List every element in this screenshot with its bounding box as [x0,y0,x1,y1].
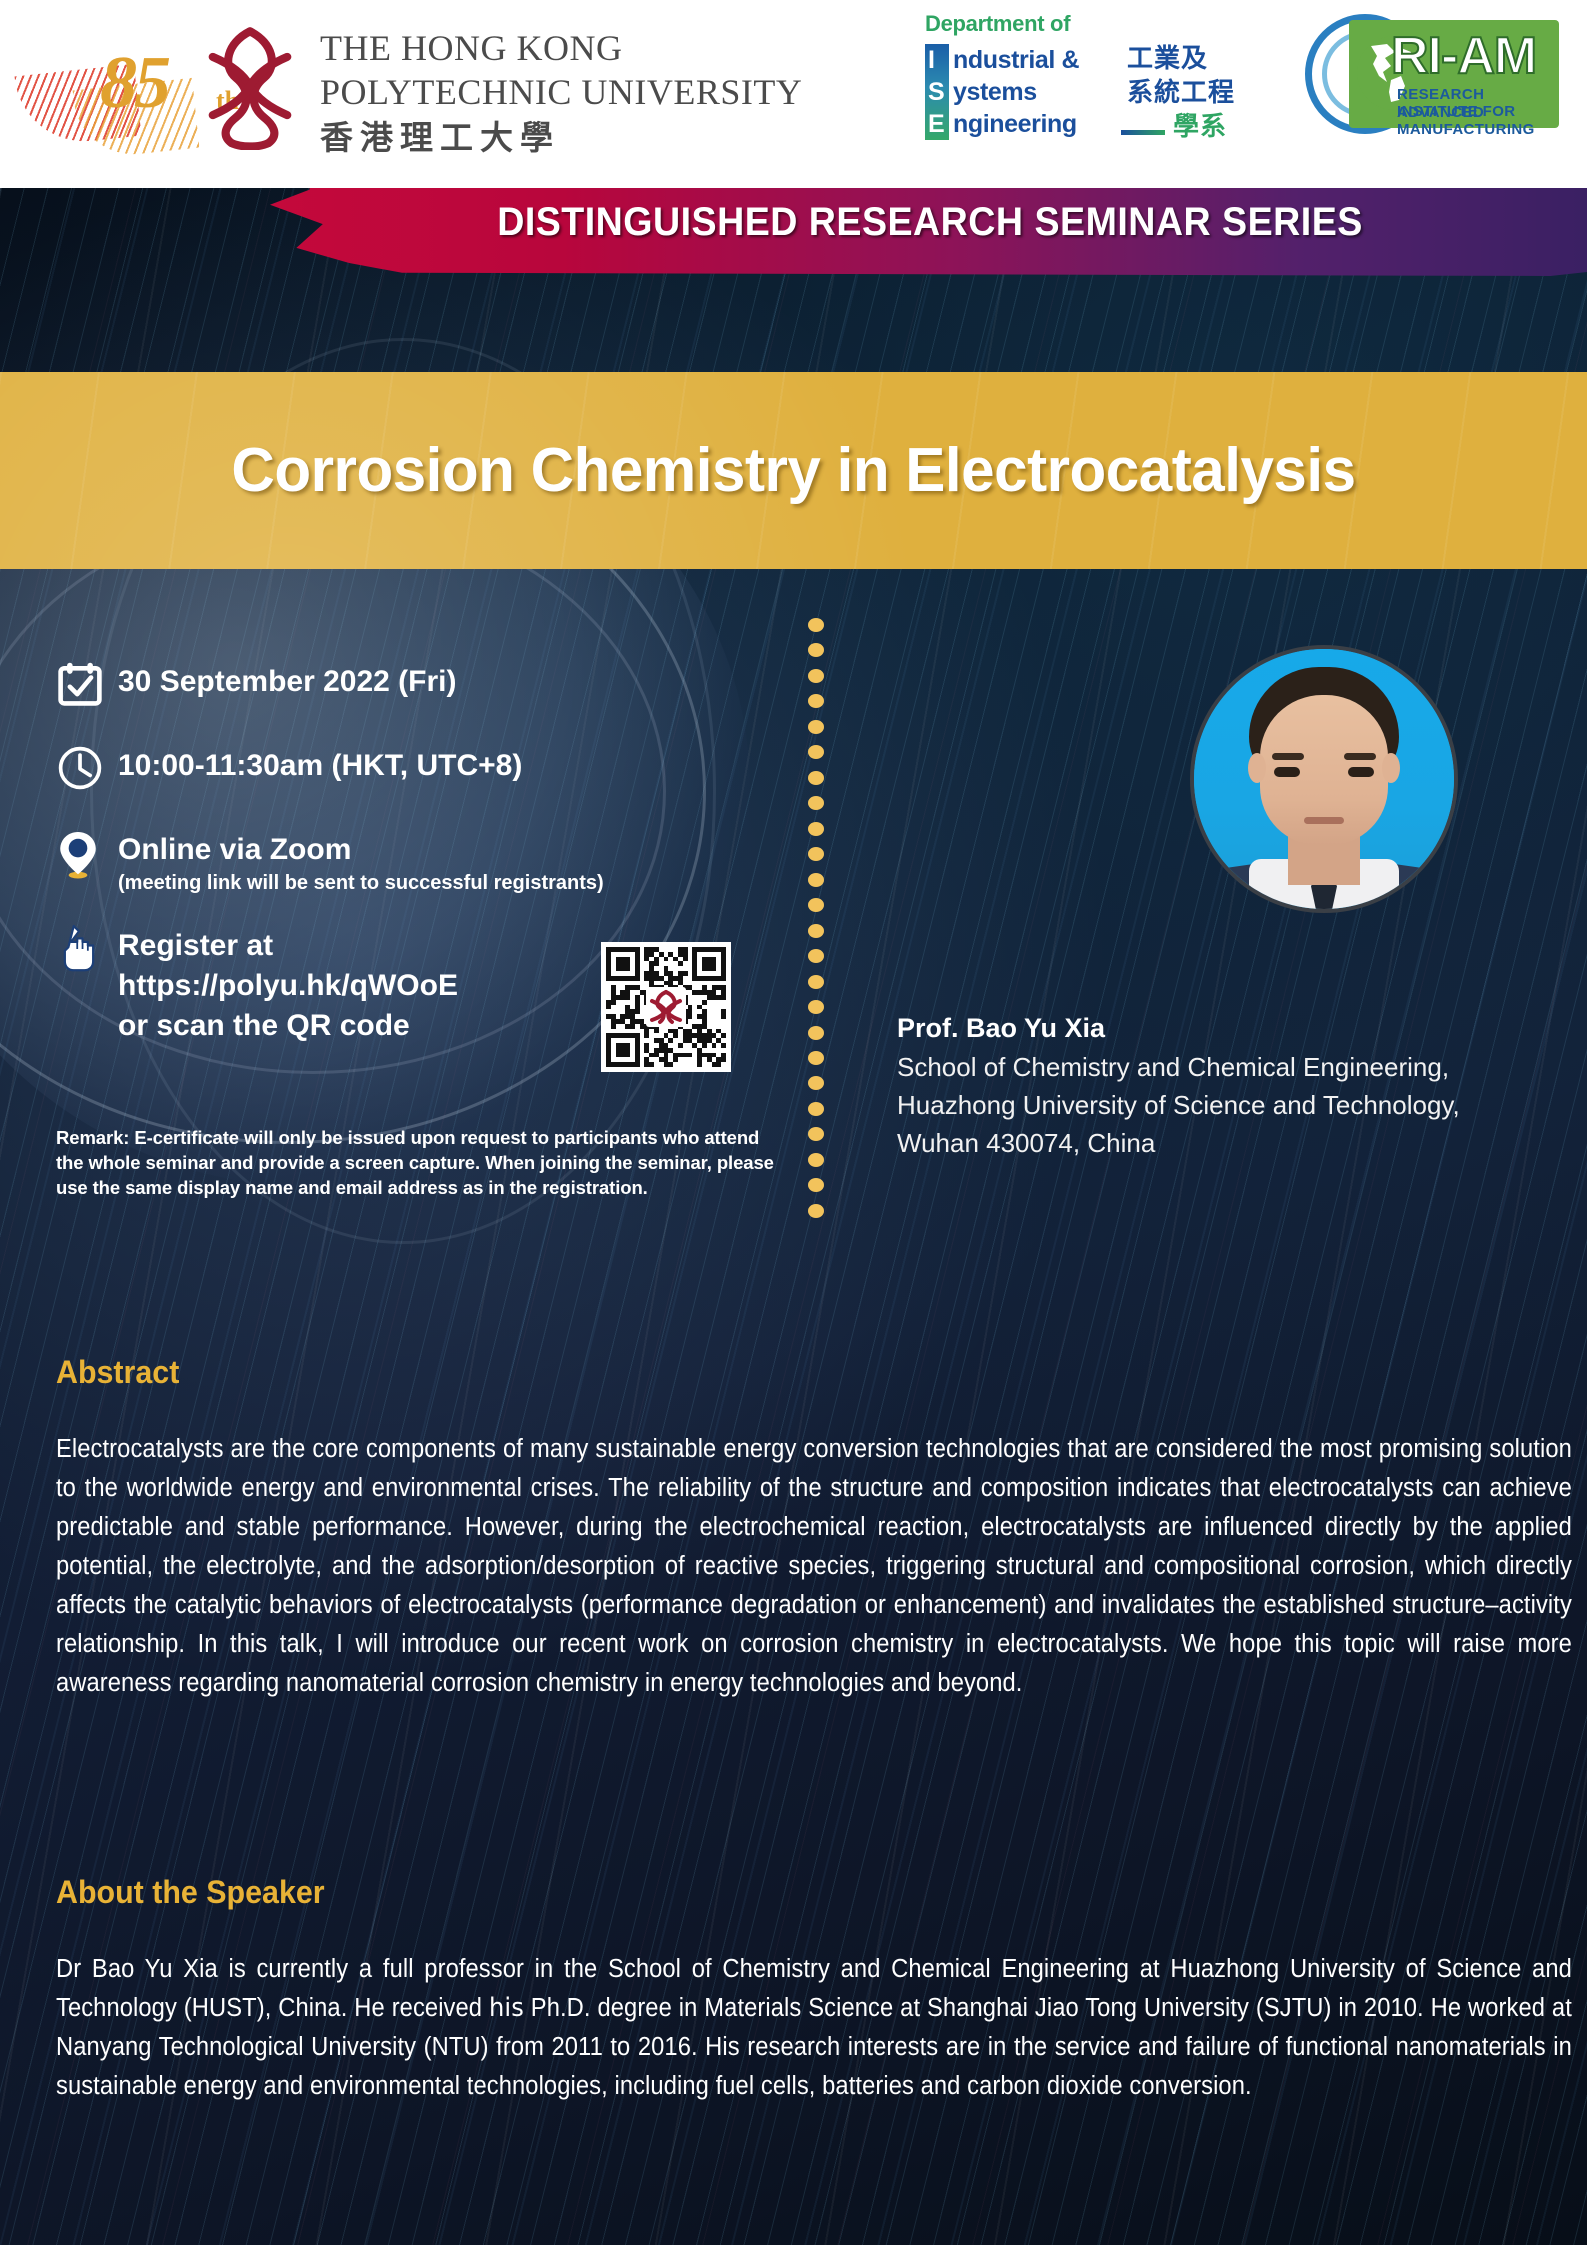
qr-module [692,952,697,957]
qr-module [664,1048,669,1053]
qr-module [620,966,625,971]
qr-module [640,990,645,995]
qr-module [702,1019,707,1024]
divider-dot [808,1051,824,1065]
qr-module [716,985,721,990]
divider-dot [808,618,824,632]
qr-module [707,976,712,981]
qr-module [707,1057,712,1062]
portrait-eye-right [1348,767,1374,777]
portrait-ear-right [1382,753,1400,783]
qr-module [712,995,717,1000]
qr-module [688,1005,693,1010]
qr-module [620,947,625,952]
qr-module [640,1019,645,1024]
qr-module [635,1005,640,1010]
qr-module [659,1048,664,1053]
qr-module [683,1029,688,1034]
riam-subtitle-line2: ADVANCED MANUFACTURING [1397,104,1565,138]
qr-module [635,1048,640,1053]
qr-module [606,966,611,971]
qr-module [635,995,640,1000]
qr-module [697,990,702,995]
qr-module [616,1043,621,1048]
qr-module [683,952,688,957]
qr-module [712,985,717,990]
qr-module [707,1033,712,1038]
speaker-affiliation: School of Chemistry and Chemical Enginee… [897,1048,1537,1162]
qr-module [664,1057,669,1062]
qr-module [630,1014,635,1019]
header-logo-bar: 85 th THE HONG KONG POLYTECHNIC UNIVERSI… [0,0,1587,188]
qr-module [678,952,683,957]
qr-module [721,990,726,995]
qr-module [702,947,707,952]
event-time-text: 10:00-11:30am (HKT, UTC+8) [118,748,522,784]
qr-module [625,1014,630,1019]
qr-module [644,1029,649,1034]
qr-module [635,1043,640,1048]
qr-module [649,952,654,957]
qr-module [616,1019,621,1024]
qr-module [712,966,717,971]
qr-module [721,966,726,971]
qr-module [630,976,635,981]
qr-module [611,947,616,952]
ise-word-engineering: ngineering [953,110,1077,138]
qr-module [697,1062,702,1067]
qr-module [712,976,717,981]
event-date-row: 30 September 2022 (Fri) [56,660,736,718]
qr-module [616,1062,621,1067]
qr-module [692,1024,697,1029]
divider-dot [808,847,824,861]
qr-module [625,985,630,990]
qr-module [625,1005,630,1010]
divider-dot [808,1153,824,1167]
qr-module [721,1033,726,1038]
qr-module [630,1033,635,1038]
qr-module [635,1053,640,1058]
qr-module [616,1053,621,1058]
qr-module [630,985,635,990]
qr-module [692,1043,697,1048]
qr-module [644,1062,649,1067]
polyu-name-chinese: 香港理工大學 [320,118,840,158]
qr-module [678,1053,683,1058]
anniversary-number: 85 [100,46,168,120]
qr-module [702,966,707,971]
riam-logo: RI-AM RESEARCH INSTITUTE FOR ADVANCED MA… [1305,14,1565,134]
qr-module [692,961,697,966]
qr-module [721,971,726,976]
qr-module [606,1062,611,1067]
qr-module [635,1057,640,1062]
divider-dot [808,898,824,912]
qr-module [649,971,654,976]
qr-module [630,1009,635,1014]
riam-title: RI-AM [1391,30,1536,82]
polyu-name-line1: THE HONG KONG [320,26,840,70]
divider-dot [808,745,824,759]
portrait-brow-left [1272,753,1304,760]
qr-module [649,961,654,966]
divider-dot [808,1102,824,1116]
qr-module [716,1062,721,1067]
qr-module [606,1043,611,1048]
qr-module [620,1043,625,1048]
qr-module [702,1014,707,1019]
about-speaker-heading: About the Speaker [56,1873,325,1911]
qr-module [721,1009,726,1014]
qr-module [697,1048,702,1053]
about-speaker-emphasis: his [489,1993,524,2023]
qr-module [692,976,697,981]
divider-dot [808,669,824,683]
divider-dot [808,949,824,963]
polyu-wordmark: THE HONG KONG POLYTECHNIC UNIVERSITY 香港理… [320,26,840,158]
qr-module [630,1024,635,1029]
qr-module [616,957,621,962]
qr-module [630,1062,635,1067]
qr-module [644,976,649,981]
qr-module [721,961,726,966]
ise-letter-i: I [928,46,935,74]
qr-module [664,957,669,962]
portrait-brow-right [1344,753,1376,760]
divider-dot [808,975,824,989]
divider-dot [808,643,824,657]
qr-module [692,957,697,962]
qr-module [616,966,621,971]
ise-department-logo: Department of I S E ndustrial & ystems n… [925,12,1285,142]
qr-module [683,1038,688,1043]
qr-module [644,1033,649,1038]
qr-module [625,976,630,981]
qr-module [616,995,621,1000]
qr-module [692,971,697,976]
qr-module [697,1029,702,1034]
qr-module [702,990,707,995]
qr-module [688,1033,693,1038]
qr-module [702,976,707,981]
qr-module [635,1033,640,1038]
banner-text: DISTINGUISHED RESEARCH SEMINAR SERIES [310,178,1551,266]
qr-module [688,1053,693,1058]
qr-module [664,966,669,971]
qr-module [688,1029,693,1034]
clock-icon [56,744,118,802]
qr-module [606,1057,611,1062]
qr-module [707,995,712,1000]
qr-module [664,1043,669,1048]
qr-module [721,1014,726,1019]
qr-module [654,976,659,981]
qr-module [616,1033,621,1038]
qr-module [716,976,721,981]
divider-dot [808,1026,824,1040]
qr-module [625,990,630,995]
qr-module [640,1024,645,1029]
qr-module [606,976,611,981]
qr-module [611,990,616,995]
qr-module [702,1038,707,1043]
about-speaker-body: Dr Bao Yu Xia is currently a full profes… [56,1950,1572,2106]
qr-module [625,961,630,966]
qr-module [692,1033,697,1038]
qr-module [625,1053,630,1058]
qr-module [668,1029,673,1034]
qr-module [692,966,697,971]
portrait-mouth [1304,817,1344,824]
qr-module [664,971,669,976]
qr-module [635,1062,640,1067]
qr-module [668,981,673,986]
qr-module [707,957,712,962]
event-date-text: 30 September 2022 (Fri) [118,664,456,700]
qr-module [625,947,630,952]
qr-module [644,952,649,957]
seminar-title: Corrosion Chemistry in Electrocatalysis [24,372,1563,569]
qr-module [678,961,683,966]
qr-module [668,976,673,981]
divider-dot [808,924,824,938]
qr-module [702,961,707,966]
qr-module [611,976,616,981]
qr-module [606,1000,611,1005]
qr-module [611,1033,616,1038]
qr-module [625,1033,630,1038]
ise-word-industrial: ndustrial & [953,46,1079,74]
qr-module [678,981,683,986]
qr-module [606,1038,611,1043]
qr-module [630,947,635,952]
qr-module [668,1048,673,1053]
qr-module [635,985,640,990]
qr-module [716,1029,721,1034]
qr-module [712,990,717,995]
qr-module [620,1048,625,1053]
qr-module [712,961,717,966]
qr-module [654,947,659,952]
qr-module [683,1033,688,1038]
qr-module [635,1009,640,1014]
abstract-heading: Abstract [56,1353,179,1391]
qr-module [702,985,707,990]
qr-module [649,947,654,952]
seminar-series-banner: DISTINGUISHED RESEARCH SEMINAR SERIES [0,188,1587,258]
event-venue-row: Online via Zoom (meeting link will be se… [56,828,736,896]
qr-module [688,1009,693,1014]
qr-module [625,995,630,1000]
qr-module [611,1024,616,1029]
qr-module [697,947,702,952]
qr-module [697,1033,702,1038]
qr-module [616,947,621,952]
qr-module [649,1053,654,1058]
qr-module [611,985,616,990]
qr-module [611,1062,616,1067]
qr-module [664,1062,669,1067]
qr-module [712,947,717,952]
title-band: Corrosion Chemistry in Electrocatalysis [0,372,1587,569]
portrait-eye-left [1274,767,1300,777]
qr-module [716,947,721,952]
qr-module [606,1014,611,1019]
qr-module [620,1053,625,1058]
divider-dot [808,1076,824,1090]
qr-module [716,995,721,1000]
qr-module [606,971,611,976]
qr-module [707,1029,712,1034]
qr-center-polyu-logo [646,987,686,1027]
divider-dot [808,771,824,785]
qr-module [620,961,625,966]
qr-module [668,1062,673,1067]
qr-module [649,981,654,986]
qr-module [721,947,726,952]
qr-module [606,957,611,962]
qr-module [673,1053,678,1058]
event-time-row: 10:00-11:30am (HKT, UTC+8) [56,744,736,802]
divider-dot [808,720,824,734]
divider-dot [808,796,824,810]
portrait-ear-left [1248,753,1266,783]
qr-module [635,1019,640,1024]
divider-dot [808,873,824,887]
qr-module [664,1033,669,1038]
qr-module [620,1062,625,1067]
qr-module [649,1062,654,1067]
qr-module [702,1033,707,1038]
qr-module [644,1048,649,1053]
qr-module [654,971,659,976]
polyu-name-line2: POLYTECHNIC UNIVERSITY [320,70,840,114]
abstract-body: Electrocatalysts are the core components… [56,1430,1572,1703]
ise-department-of-label: Department of [925,12,1285,36]
qr-module [635,952,640,957]
qr-module [678,971,683,976]
qr-module [616,1048,621,1053]
speaker-portrait [1190,645,1458,913]
qr-module [692,947,697,952]
qr-module [668,1038,673,1043]
qr-module [654,1048,659,1053]
qr-module [721,957,726,962]
qr-module [702,1000,707,1005]
qr-module [678,1043,683,1048]
qr-module [654,957,659,962]
register-url[interactable]: https://polyu.hk/qWOoE [118,966,458,1006]
speaker-name: Prof. Bao Yu Xia [897,1010,1537,1046]
qr-module [673,1033,678,1038]
qr-module [688,985,693,990]
qr-module [697,1053,702,1058]
qr-module [673,976,678,981]
qr-module [697,1014,702,1019]
qr-module [649,976,654,981]
qr-module [659,952,664,957]
qr-module [654,1029,659,1034]
qr-module [654,1038,659,1043]
qr-module [712,957,717,962]
qr-module [721,1053,726,1058]
qr-module [630,1019,635,1024]
divider-dot [808,694,824,708]
calendar-check-icon [56,660,118,718]
qr-code-icon[interactable] [601,942,731,1072]
qr-module [649,966,654,971]
qr-module [683,971,688,976]
qr-module [625,1024,630,1029]
qr-module [620,1019,625,1024]
qr-module [659,1057,664,1062]
qr-module [664,1053,669,1058]
register-line1: Register at [118,926,458,966]
event-venue-text: Online via Zoom [118,832,604,868]
qr-module [635,976,640,981]
qr-module [611,1019,616,1024]
ise-chinese-line3: 學系 [1173,112,1227,142]
qr-module [611,995,616,1000]
qr-module [668,952,673,957]
location-pin-icon [56,828,118,886]
qr-module [644,971,649,976]
register-line3: or scan the QR code [118,1006,458,1046]
divider-dot [808,1127,824,1141]
qr-module [606,947,611,952]
qr-module [625,1062,630,1067]
qr-module [707,947,712,952]
qr-module [702,957,707,962]
divider-dot [808,822,824,836]
qr-module [616,961,621,966]
qr-module [683,957,688,962]
qr-module [673,957,678,962]
qr-module [697,1024,702,1029]
qr-module [707,1053,712,1058]
qr-module [716,1038,721,1043]
qr-module [606,961,611,966]
qr-module [659,976,664,981]
qr-module [606,1033,611,1038]
polyu-knot-icon [190,22,310,150]
qr-module [697,1005,702,1010]
qr-module [635,1000,640,1005]
qr-module [707,966,712,971]
qr-module [659,1043,664,1048]
qr-module [688,1014,693,1019]
qr-module [625,1048,630,1053]
qr-module [712,1053,717,1058]
qr-module [620,1014,625,1019]
qr-module [721,1057,726,1062]
qr-module [635,1038,640,1043]
qr-module [606,1053,611,1058]
qr-module [635,971,640,976]
qr-module [712,1033,717,1038]
qr-module [644,1043,649,1048]
qr-module [721,985,726,990]
qr-module [606,1048,611,1053]
qr-module [625,966,630,971]
qr-module [625,1043,630,1048]
qr-module [644,947,649,952]
qr-module [635,957,640,962]
qr-module [654,961,659,966]
qr-module [712,1062,717,1067]
qr-module [620,1033,625,1038]
